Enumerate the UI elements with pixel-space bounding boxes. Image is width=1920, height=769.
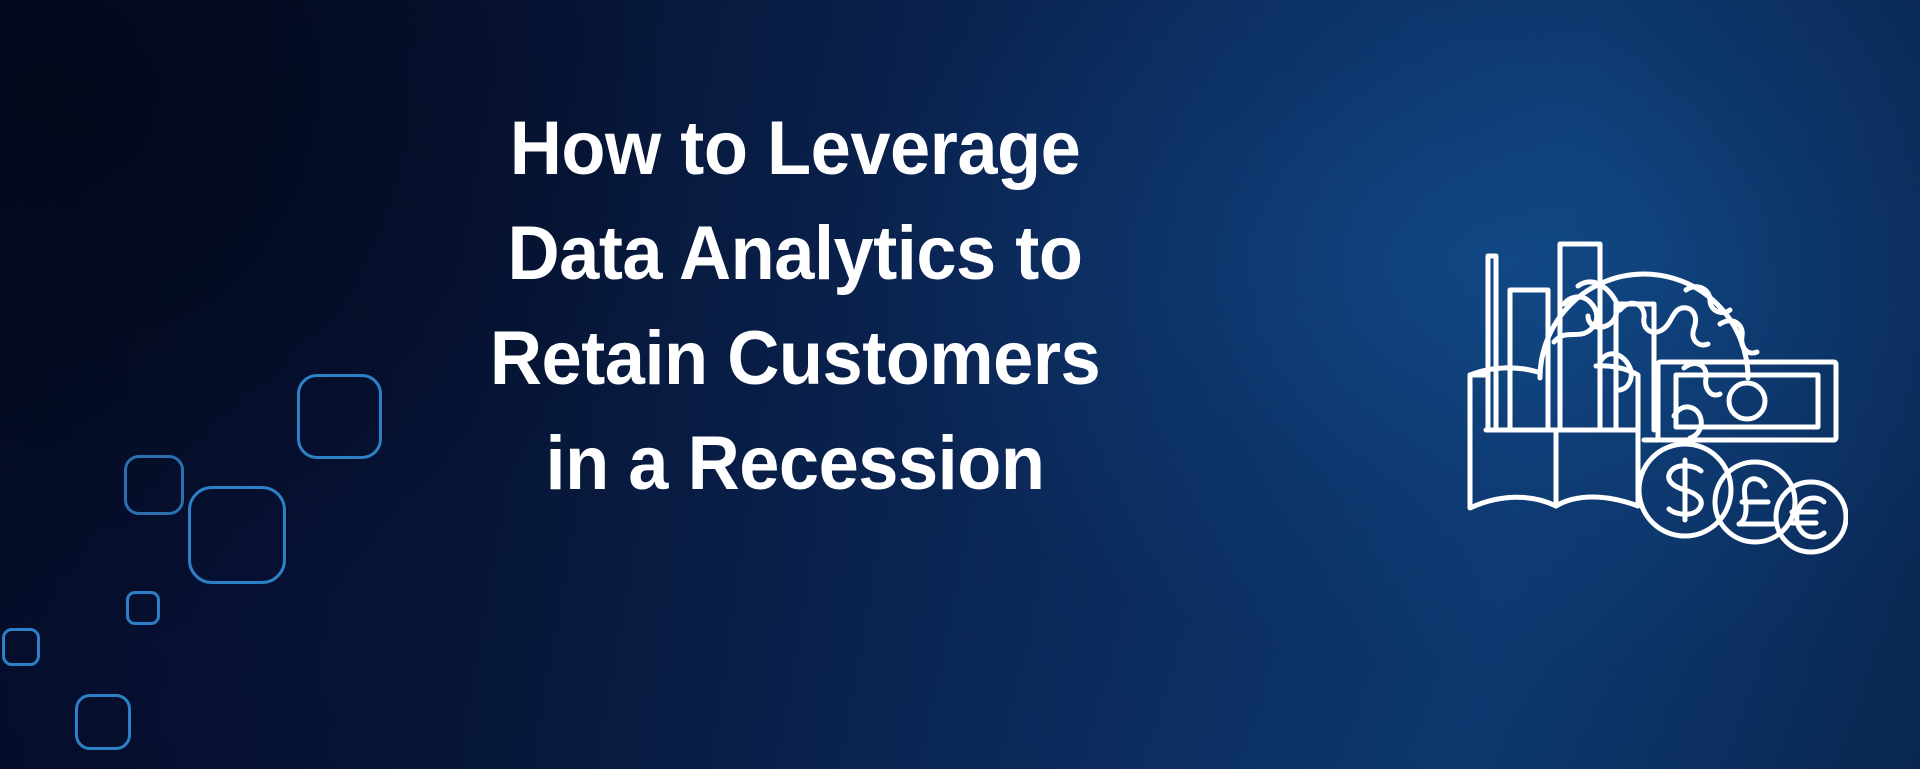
- euro-coin-icon: [1776, 482, 1846, 552]
- hero-banner: How to Leverage Data Analytics to Retain…: [0, 0, 1920, 769]
- currency-coins-group: [1639, 444, 1846, 552]
- page-title: How to Leverage Data Analytics to Retain…: [330, 96, 1260, 516]
- title-line-1: How to Leverage: [353, 96, 1237, 201]
- globe-icon: [1540, 274, 1757, 438]
- title-line-4: in a Recession: [353, 411, 1237, 516]
- title-line-2: Data Analytics to: [353, 201, 1237, 306]
- square-3: [188, 486, 286, 584]
- global-economy-data-illustration: [1448, 172, 1848, 562]
- square-5: [2, 628, 40, 666]
- square-4: [126, 591, 160, 625]
- banknote-icon: [1644, 362, 1836, 440]
- square-6: [75, 694, 131, 750]
- title-line-3: Retain Customers: [353, 306, 1237, 411]
- square-1: [124, 455, 184, 515]
